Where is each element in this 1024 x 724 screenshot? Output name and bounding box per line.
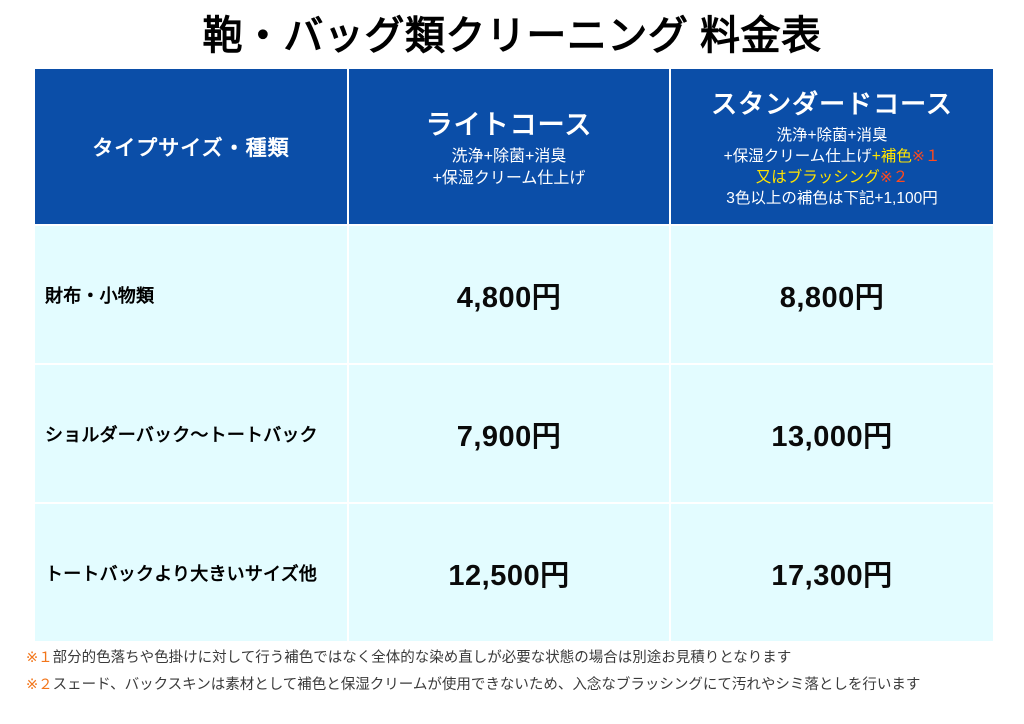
standard-course-sub-line2-white: +保湿クリーム仕上げ: [724, 148, 872, 165]
standard-course-title: スタンダードコース: [671, 84, 993, 121]
table-row: ショルダーバック〜トートバック 7,900円 13,000円: [34, 364, 994, 503]
light-course-sub-line1: 洗浄+除菌+消臭: [349, 146, 669, 168]
table-row: 財布・小物類 4,800円 8,800円: [34, 225, 994, 364]
row-label-larger-than-tote: トートバックより大きいサイズ他: [34, 503, 348, 642]
footnotes: ※１部分的色落ちや色掛けに対して行う補色ではなく全体的な染め直しが必要な状態の場…: [26, 645, 1006, 699]
light-course-title: ライトコース: [349, 103, 669, 142]
table-header: タイプサイズ・種類 ライトコース 洗浄+除菌+消臭 +保湿クリーム仕上げ スタン…: [34, 68, 994, 225]
light-course-sub-line2: +保湿クリーム仕上げ: [349, 168, 669, 190]
row-label-wallet: 財布・小物類: [34, 225, 348, 364]
standard-course-sub-line3: 又はブラッシング※２: [671, 167, 993, 188]
standard-course-sub-line4: 3色以上の補色は下記+1,100円: [671, 188, 993, 209]
price-light-wallet: 4,800円: [348, 225, 670, 364]
footnote-2-text: スェード、バックスキンは素材として補色と保湿クリームが使用できないため、入念なブ…: [53, 677, 921, 693]
footnote-2: ※２スェード、バックスキンは素材として補色と保湿クリームが使用できないため、入念…: [26, 672, 1006, 699]
standard-course-sub-line3-highlight: 又はブラッシング: [756, 169, 880, 186]
table-header-row: タイプサイズ・種類 ライトコース 洗浄+除菌+消臭 +保湿クリーム仕上げ スタン…: [34, 68, 994, 225]
price-standard-shoulder-tote: 13,000円: [670, 364, 994, 503]
price-table-page: 鞄・バッグ類クリーニング 料金表 タイプサイズ・種類 ライトコース 洗浄+除菌+…: [0, 0, 1024, 724]
price-light-shoulder-tote: 7,900円: [348, 364, 670, 503]
price-light-larger-than-tote: 12,500円: [348, 503, 670, 642]
price-standard-wallet: 8,800円: [670, 225, 994, 364]
standard-course-note-marker-1: ※１: [912, 148, 941, 165]
price-table-wrapper: タイプサイズ・種類 ライトコース 洗浄+除菌+消臭 +保湿クリーム仕上げ スタン…: [33, 67, 993, 633]
header-type-column: タイプサイズ・種類: [34, 68, 348, 225]
footnote-1-text: 部分的色落ちや色掛けに対して行う補色ではなく全体的な染め直しが必要な状態の場合は…: [53, 650, 792, 666]
header-standard-course: スタンダードコース 洗浄+除菌+消臭 +保湿クリーム仕上げ+補色※１ 又はブラッ…: [670, 68, 994, 225]
header-light-course: ライトコース 洗浄+除菌+消臭 +保湿クリーム仕上げ: [348, 68, 670, 225]
standard-course-sub-line1: 洗浄+除菌+消臭: [671, 125, 993, 146]
price-standard-larger-than-tote: 17,300円: [670, 503, 994, 642]
footnote-1-marker: ※１: [26, 650, 53, 666]
footnote-2-marker: ※２: [26, 677, 53, 693]
footnote-1: ※１部分的色落ちや色掛けに対して行う補色ではなく全体的な染め直しが必要な状態の場…: [26, 645, 1006, 672]
table-body: 財布・小物類 4,800円 8,800円 ショルダーバック〜トートバック 7,9…: [34, 225, 994, 642]
page-title: 鞄・バッグ類クリーニング 料金表: [0, 10, 1024, 62]
standard-course-sub-line2-highlight: +補色: [872, 148, 912, 165]
table-row: トートバックより大きいサイズ他 12,500円 17,300円: [34, 503, 994, 642]
standard-course-sub-line2: +保湿クリーム仕上げ+補色※１: [671, 146, 993, 167]
price-table: タイプサイズ・種類 ライトコース 洗浄+除菌+消臭 +保湿クリーム仕上げ スタン…: [33, 67, 995, 643]
standard-course-note-marker-2: ※２: [880, 169, 909, 186]
row-label-shoulder-tote: ショルダーバック〜トートバック: [34, 364, 348, 503]
